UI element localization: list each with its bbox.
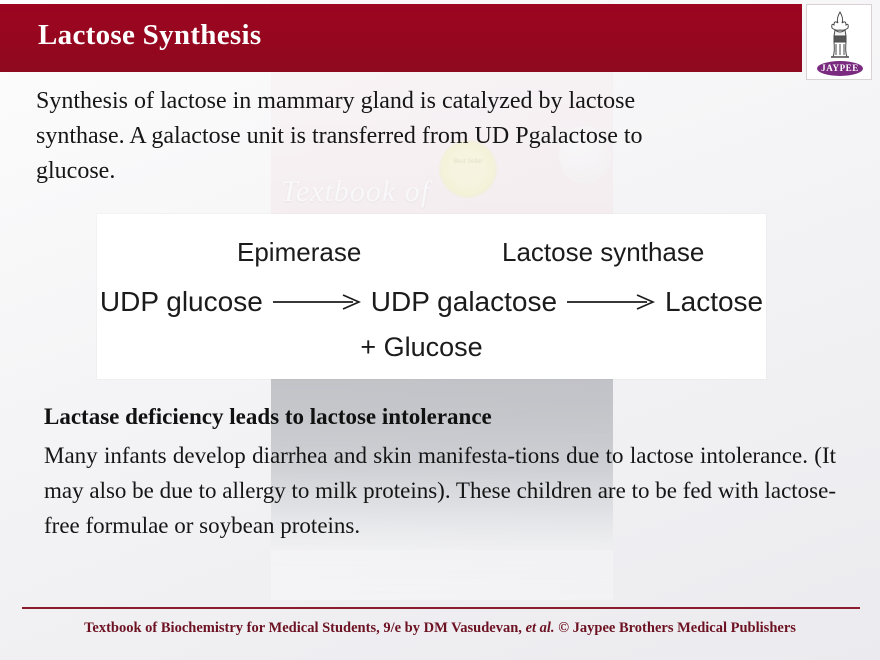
cosubstrate-glucose-row: + Glucose (97, 332, 766, 363)
footer-text-italic: et al. (526, 620, 555, 636)
footer-divider (22, 607, 860, 609)
reaction-diagram: Epimerase Lactose synthase UDP glucose U… (97, 214, 766, 379)
right-arrow-icon-2 (567, 293, 655, 311)
page-title: Lactose Synthesis (38, 19, 261, 52)
footer-citation: Textbook of Biochemistry for Medical Stu… (0, 620, 880, 637)
enzyme-label-lactose-synthase: Lactose synthase (502, 237, 704, 268)
reactant-udp-glucose: UDP glucose (100, 286, 263, 318)
footer-text-before: Textbook of Biochemistry for Medical Stu… (84, 620, 525, 636)
product-lactose: Lactose (665, 286, 763, 318)
slide-root: • Thoroughly revised & updated contents … (0, 0, 880, 660)
lower-paragraph: Many infants develop diarrhea and skin m… (44, 438, 836, 543)
intermediate-udp-galactose: UDP galactose (371, 286, 557, 318)
publisher-logo: JAYPEE (806, 4, 872, 80)
cosubstrate-glucose: + Glucose (360, 332, 482, 362)
right-arrow-icon (273, 293, 361, 311)
enzyme-label-epimerase: Epimerase (237, 237, 361, 268)
footer-text-after: © Jaypee Brothers Medical Publishers (555, 620, 796, 636)
torch-flame-icon (823, 10, 857, 60)
jaypee-badge: JAYPEE (817, 61, 863, 76)
section-heading-lactase-deficiency: Lactase deficiency leads to lactose into… (44, 404, 492, 430)
intro-paragraph: Synthesis of lactose in mammary gland is… (36, 84, 726, 189)
reaction-row: UDP glucose UDP galactose Lactose (97, 282, 766, 322)
